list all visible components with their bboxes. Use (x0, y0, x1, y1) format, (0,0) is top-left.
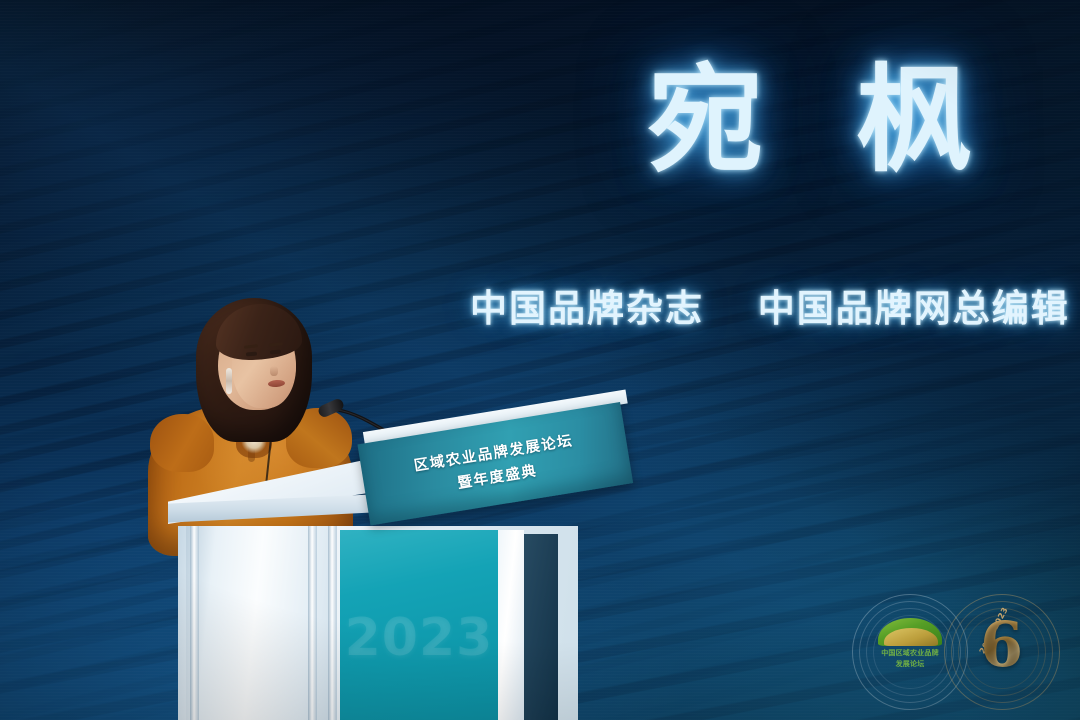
podium-groove-1 (190, 526, 199, 720)
podium-groove-3 (328, 526, 337, 720)
corner-logo-group: 中国区域农业品牌 发展论坛 2018-2023 6 (846, 592, 1076, 720)
podium-front-panel: 2023 (340, 530, 498, 720)
emblem-text-line1: 中国区域农业品牌 (876, 648, 944, 659)
speaker-nose (270, 366, 278, 376)
podium-year-graphic: 2023 (340, 608, 498, 668)
speaker-affiliation-magazine: 中国品牌杂志 (470, 286, 704, 330)
speaker-earring (226, 368, 232, 394)
anniversary-numeral: 6 (980, 614, 1023, 676)
speaker-affiliation-website: 中国品牌网总编辑 (758, 286, 1070, 330)
emblem-hill-mark: 中国区域农业品牌 发展论坛 (876, 616, 944, 680)
podium-groove-2 (308, 526, 317, 720)
podium: 2023 区域农业品牌发展论坛 暨年度盛典 (168, 430, 588, 720)
speaker-name-title: 宛 枫 (600, 62, 1020, 178)
emblem-text-line2: 发展论坛 (876, 659, 944, 670)
speaker-title-line: 中国品牌杂志 中国品牌网总编辑 (470, 288, 1060, 329)
anniversary-emblem-logo: 2018-2023 6 (942, 592, 1062, 712)
podium-side-shadow (524, 534, 558, 720)
emblem-text-block: 中国区域农业品牌 发展论坛 (876, 648, 944, 669)
podium-right-edge (498, 530, 524, 720)
stage-photo: 宛 枫 中国品牌杂志 中国品牌网总编辑 (0, 0, 1080, 720)
anniversary-mark: 2018-2023 6 (972, 612, 1034, 684)
